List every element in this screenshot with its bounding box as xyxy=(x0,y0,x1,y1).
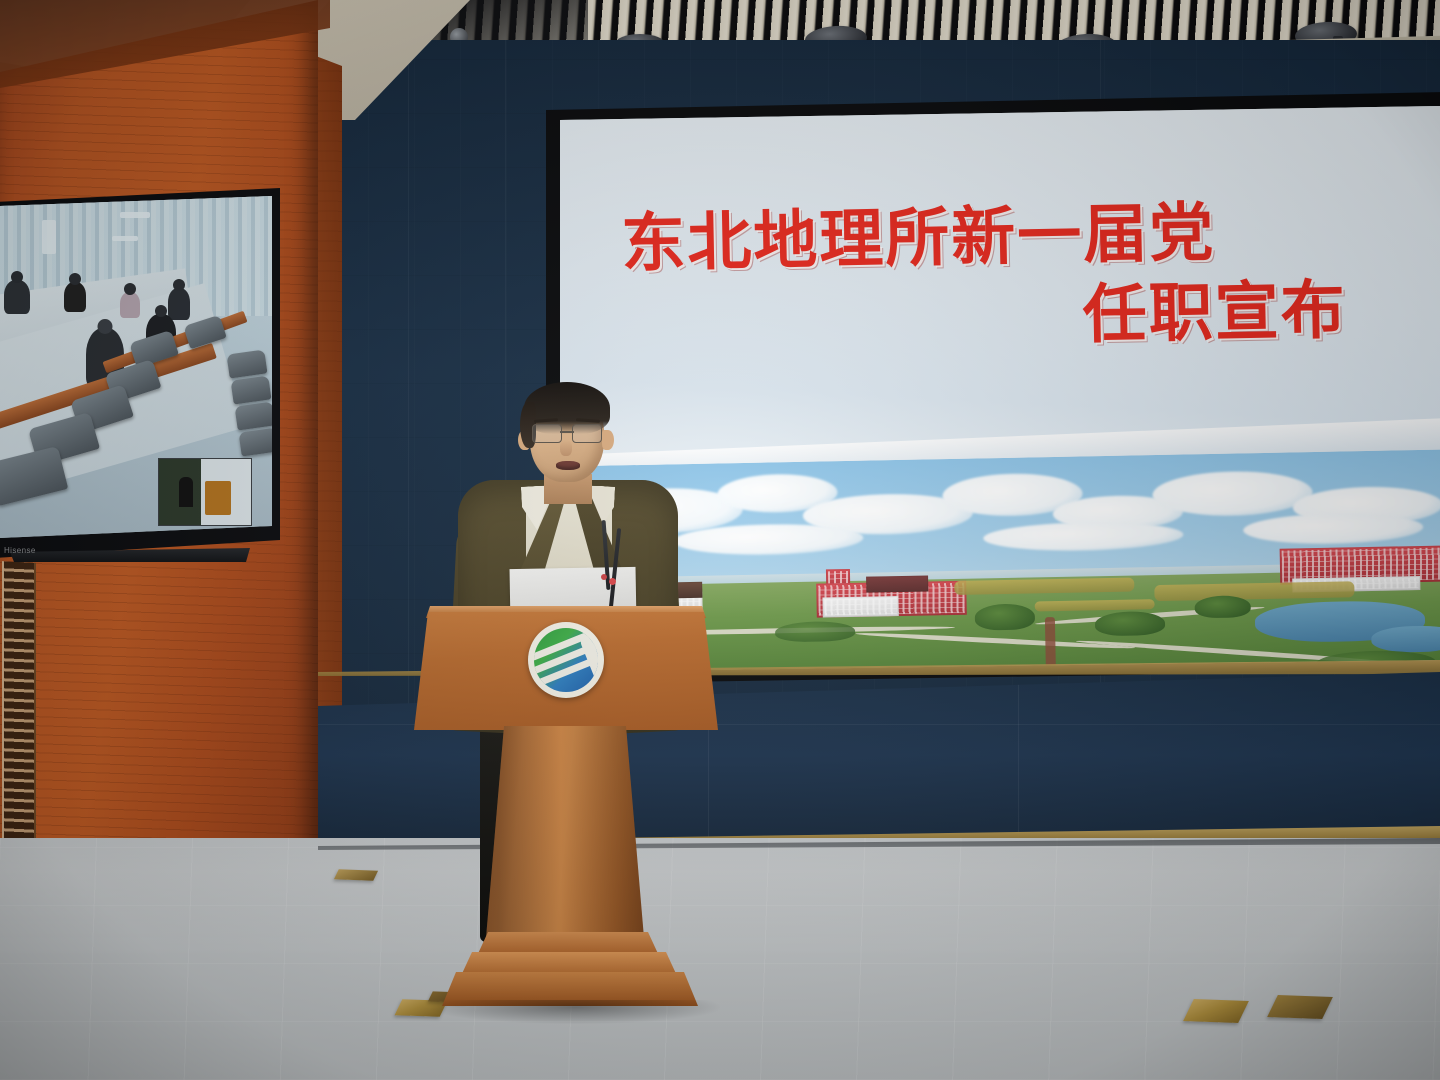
vc-attendee xyxy=(168,288,190,320)
floor-outlet-cover xyxy=(1183,999,1249,1023)
vc-ceiling-light xyxy=(120,212,150,218)
slide-title-line1: 东北地理所新一届党 xyxy=(621,196,1216,281)
vc-attendee xyxy=(64,282,86,312)
main-projection-screen[interactable]: 东北地理所新一届党 任职宣布 xyxy=(560,106,1440,672)
lectern-floor-shadow xyxy=(430,1000,720,1024)
vc-attendee xyxy=(120,292,140,318)
photo-building xyxy=(866,575,928,592)
floor xyxy=(0,838,1440,1080)
display-brand-label: Hisense xyxy=(4,546,36,555)
globe-emblem-graphic xyxy=(534,628,598,692)
slide-title-line2: 任职宣布 xyxy=(1082,269,1440,354)
floor-outlet-cover xyxy=(1267,995,1333,1019)
microphone-indicator-icon xyxy=(601,574,607,580)
vc-ceiling-light xyxy=(112,236,138,241)
vc-picture-in-picture[interactable] xyxy=(158,458,252,526)
vc-wall-panel xyxy=(42,220,56,254)
photo-building xyxy=(822,596,898,617)
vc-chair-row xyxy=(239,427,272,456)
globe-emblem xyxy=(528,622,604,698)
presenter-nose xyxy=(560,440,572,456)
slide-title: 东北地理所新一届党 任职宣布 xyxy=(621,188,1440,362)
presenter-ear xyxy=(602,430,614,450)
conference-hall-photo: Hisense 东北地理所新一届党 任职宣布 xyxy=(0,0,1440,1080)
vc-attendee xyxy=(4,280,30,314)
presenter-mouth xyxy=(556,461,580,470)
microphone-indicator-icon xyxy=(609,578,616,585)
vc-chair-row xyxy=(235,401,272,430)
floor-outlet-cover xyxy=(334,869,378,880)
left-video-conference-display[interactable] xyxy=(0,196,272,538)
floor-reflection xyxy=(0,838,1440,958)
glasses-icon xyxy=(532,424,602,441)
photo-pond xyxy=(1371,625,1440,653)
